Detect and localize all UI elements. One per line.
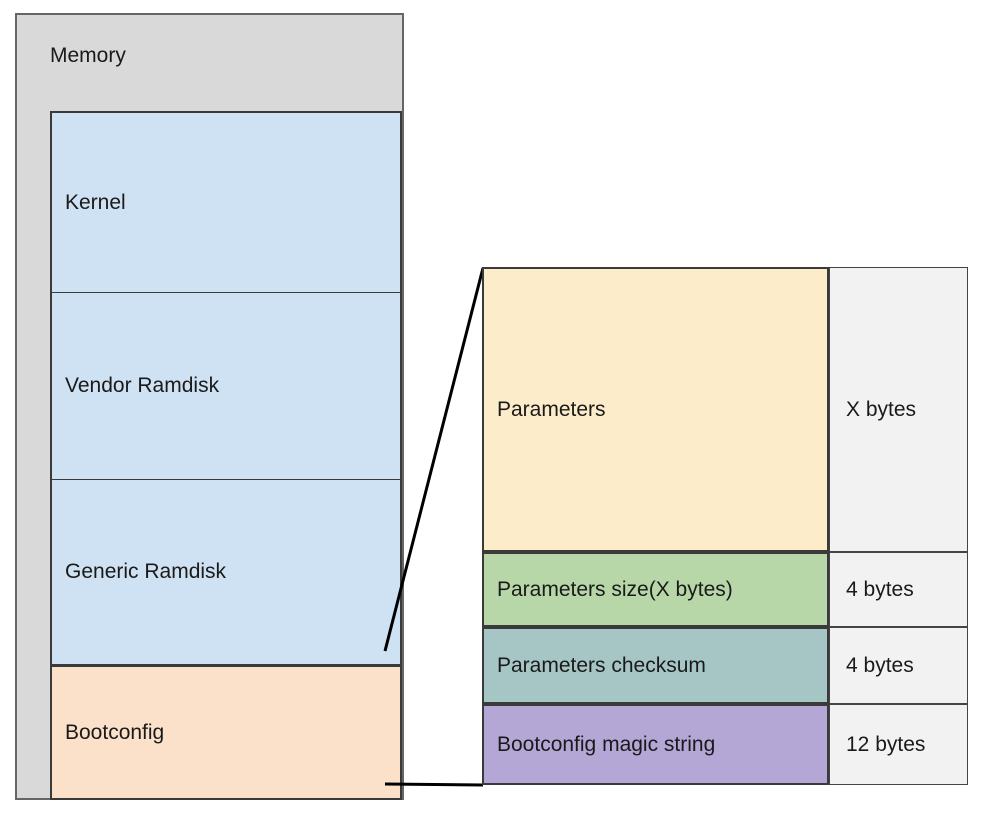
detail-size-cell: X bytes [829, 267, 968, 552]
memory-container: Memory Kernel Vendor Ramdisk Generic Ram… [15, 13, 404, 800]
memory-segment-bootconfig: Bootconfig [50, 665, 402, 800]
bootconfig-detail-table: Parameters X bytes Parameters size(X byt… [482, 267, 968, 785]
detail-name-cell: Parameters [482, 267, 829, 552]
memory-segment-generic-ramdisk: Generic Ramdisk [50, 479, 402, 666]
detail-row-parameters-checksum: Parameters checksum 4 bytes [482, 627, 968, 704]
detail-row-bootconfig-magic-string: Bootconfig magic string 12 bytes [482, 704, 968, 785]
memory-label: Memory [50, 42, 126, 69]
memory-segment-vendor-ramdisk: Vendor Ramdisk [50, 292, 402, 480]
memory-segment-label: Generic Ramdisk [65, 559, 226, 585]
detail-name-cell: Parameters checksum [482, 627, 829, 704]
detail-size-cell: 12 bytes [829, 704, 968, 785]
diagram-canvas: Memory Kernel Vendor Ramdisk Generic Ram… [0, 0, 984, 814]
detail-name-cell: Bootconfig magic string [482, 704, 829, 785]
memory-segment-label: Kernel [65, 190, 126, 216]
memory-segment-label: Bootconfig [65, 720, 164, 746]
detail-size-cell: 4 bytes [829, 552, 968, 627]
detail-size-cell: 4 bytes [829, 627, 968, 704]
memory-segment-kernel: Kernel [50, 111, 402, 293]
detail-row-parameters-size: Parameters size(X bytes) 4 bytes [482, 552, 968, 627]
memory-segment-label: Vendor Ramdisk [65, 373, 219, 399]
detail-row-parameters: Parameters X bytes [482, 267, 968, 552]
detail-name-cell: Parameters size(X bytes) [482, 552, 829, 627]
